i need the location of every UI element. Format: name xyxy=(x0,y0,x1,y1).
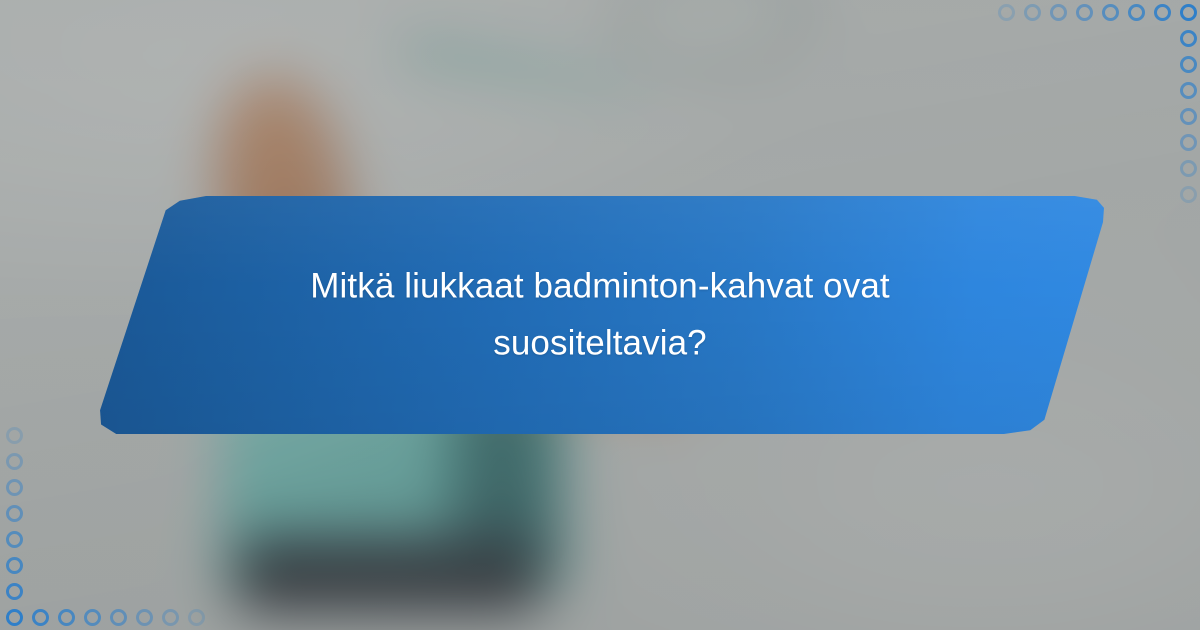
decorative-dot xyxy=(1180,108,1197,125)
decorative-dot xyxy=(1180,82,1197,99)
decorative-dot xyxy=(1180,30,1197,47)
decorative-dot xyxy=(1180,160,1197,177)
decorative-dot xyxy=(32,609,49,626)
headline-text: Mitkä liukkaat badminton-kahvat ovat suo… xyxy=(95,258,1105,371)
decorative-dot xyxy=(6,427,23,444)
decorative-dot xyxy=(188,609,205,626)
decorative-dot xyxy=(1050,4,1067,21)
headline-banner: Mitkä liukkaat badminton-kahvat ovat suo… xyxy=(95,196,1105,434)
decorative-dot xyxy=(1102,4,1119,21)
decorative-dot xyxy=(6,505,23,522)
poster-canvas: Mitkä liukkaat badminton-kahvat ovat suo… xyxy=(0,0,1200,630)
decorative-dot xyxy=(58,609,75,626)
decorative-dot xyxy=(6,557,23,574)
decorative-dot xyxy=(162,609,179,626)
decorative-dot xyxy=(1180,134,1197,151)
decorative-dot xyxy=(1180,56,1197,73)
decorative-dot xyxy=(1128,4,1145,21)
decorative-dots-top-right xyxy=(990,0,1200,215)
decorative-dot xyxy=(1076,4,1093,21)
decorative-dot xyxy=(6,609,23,626)
decorative-dots-bottom-left xyxy=(0,415,210,630)
decorative-dot xyxy=(998,4,1015,21)
decorative-dot xyxy=(110,609,127,626)
decorative-dot xyxy=(1180,4,1197,21)
decorative-dot xyxy=(6,531,23,548)
decorative-dot xyxy=(6,479,23,496)
decorative-dot xyxy=(6,453,23,470)
decorative-dot xyxy=(1024,4,1041,21)
decorative-dot xyxy=(1180,186,1197,203)
decorative-dot xyxy=(84,609,101,626)
decorative-dot xyxy=(6,583,23,600)
decorative-dot xyxy=(136,609,153,626)
decorative-dot xyxy=(1154,4,1171,21)
